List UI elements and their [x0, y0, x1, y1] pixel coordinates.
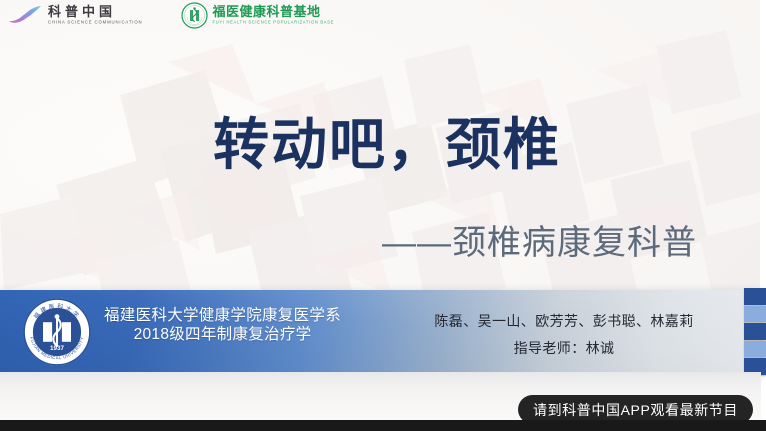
slide-subtitle: ——颈椎病康复科普 [382, 226, 697, 260]
fuyi-base-wordmark: 福医健康科普基地 FUYI HEALTH SCIENCE POPULARIZAT… [213, 5, 335, 24]
kepu-china-name-cn: 科普中国 [48, 5, 143, 18]
fuyi-base-name-en: FUYI HEALTH SCIENCE POPULARIZATION BASE [213, 20, 335, 25]
slide-main-title: 转动吧，颈椎 [213, 117, 561, 173]
svg-text:1937: 1937 [50, 345, 65, 352]
bottom-letterbox-bar [0, 420, 766, 431]
department-info: 福建医科大学健康学院康复医学系 2018级四年制康复治疗学 [104, 307, 341, 345]
slide-canvas: 科普中国 CHINA SCIENCE COMMUNICATION 福医健康科普基… [0, 0, 766, 431]
right-edge-stripe-decoration [740, 288, 766, 376]
fuyi-circle-badge-icon [181, 2, 208, 29]
advisor-name: 指导老师：林诚 [404, 335, 724, 362]
edge-stripe-4 [744, 341, 766, 358]
fuyi-base-name-cn: 福医健康科普基地 [213, 5, 335, 18]
fuyi-base-logo: 福医健康科普基地 FUYI HEALTH SCIENCE POPULARIZAT… [181, 2, 335, 29]
kepu-china-wordmark: 科普中国 CHINA SCIENCE COMMUNICATION [48, 5, 143, 24]
department-line-1: 福建医科大学健康学院康复医学系 [104, 307, 341, 326]
edge-stripe-3 [744, 323, 766, 340]
kepu-china-name-en: CHINA SCIENCE COMMUNICATION [48, 20, 143, 25]
university-seal-icon: 1937 福建医科大学 FUJIAN MEDICAL UNIVERSITY [22, 297, 92, 367]
authors-info: 陈磊、吴一山、欧芳芳、彭书聪、林嘉莉 指导老师：林诚 [404, 308, 724, 363]
logo-strip: 科普中国 CHINA SCIENCE COMMUNICATION 福医健康科普基… [0, 0, 761, 30]
edge-stripe-2 [744, 306, 766, 323]
department-line-2: 2018级四年制康复治疗学 [104, 326, 341, 345]
kepu-swoosh-icon [8, 4, 42, 26]
author-names: 陈磊、吴一山、欧芳芳、彭书聪、林嘉莉 [404, 308, 724, 335]
edge-stripe-1 [744, 288, 766, 305]
kepu-china-logo: 科普中国 CHINA SCIENCE COMMUNICATION [8, 4, 143, 26]
